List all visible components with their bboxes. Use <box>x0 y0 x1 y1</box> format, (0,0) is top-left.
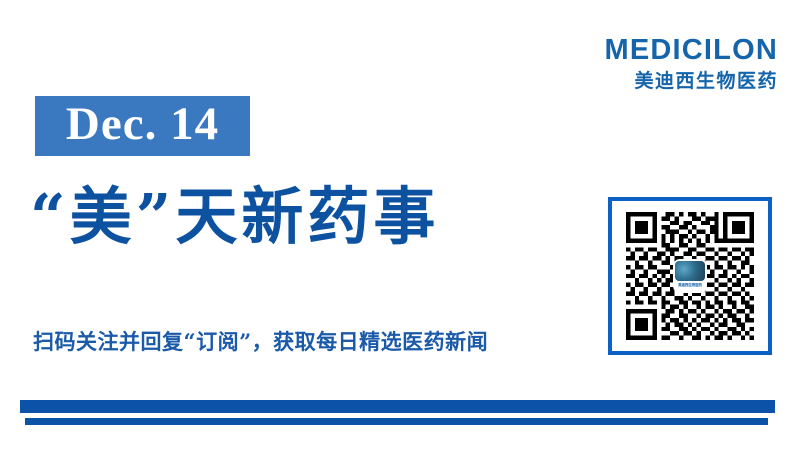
qr-code: 美迪西生物医药 <box>626 212 754 340</box>
page-title: “美”天新药事 <box>30 186 439 248</box>
qr-center-logo-caption: 美迪西生物医药 <box>675 281 705 290</box>
brand-name-cn: 美迪西生物医药 <box>604 72 778 91</box>
brand-logo: MEDICILON 美迪西生物医药 <box>604 36 778 91</box>
qr-center-logo-image <box>675 261 705 281</box>
qr-center-logo: 美迪西生物医药 <box>673 259 707 293</box>
divider-rule-top <box>20 400 775 413</box>
brand-name-en: MEDICILON <box>604 36 778 65</box>
poster-canvas: MEDICILON 美迪西生物医药 Dec. 14 “美”天新药事 扫码关注并回… <box>0 0 800 468</box>
subtitle-text: 扫码关注并回复“订阅”，获取每日精选医药新闻 <box>33 329 488 354</box>
qr-code-frame: 美迪西生物医药 <box>608 197 772 355</box>
divider-rule-bottom <box>25 418 768 425</box>
date-badge: Dec. 14 <box>35 96 250 156</box>
date-badge-label: Dec. 14 <box>66 101 219 148</box>
